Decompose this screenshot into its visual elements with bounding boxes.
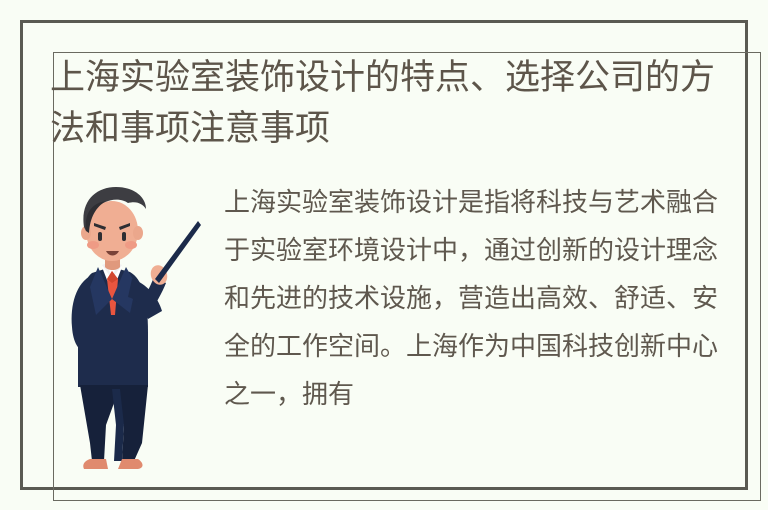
article-body: 上海实验室装饰设计是指将科技与艺术融合于实验室环境设计中，通过创新的设计理念和先… [224, 178, 736, 418]
shoe-right [118, 459, 143, 469]
cheek-right [125, 241, 137, 249]
ear-right [133, 226, 143, 240]
cheek-left [87, 241, 99, 249]
eye-left [98, 232, 102, 241]
article-card: 上海实验室装饰设计的特点、选择公司的方法和事项注意事项 [0, 0, 768, 510]
pointer-stick [155, 221, 201, 283]
shoe-left [83, 459, 108, 469]
eye-right [122, 232, 126, 241]
page-title: 上海实验室装饰设计的特点、选择公司的方法和事项注意事项 [50, 52, 740, 154]
businessman-with-pointer-illustration [62, 175, 202, 480]
